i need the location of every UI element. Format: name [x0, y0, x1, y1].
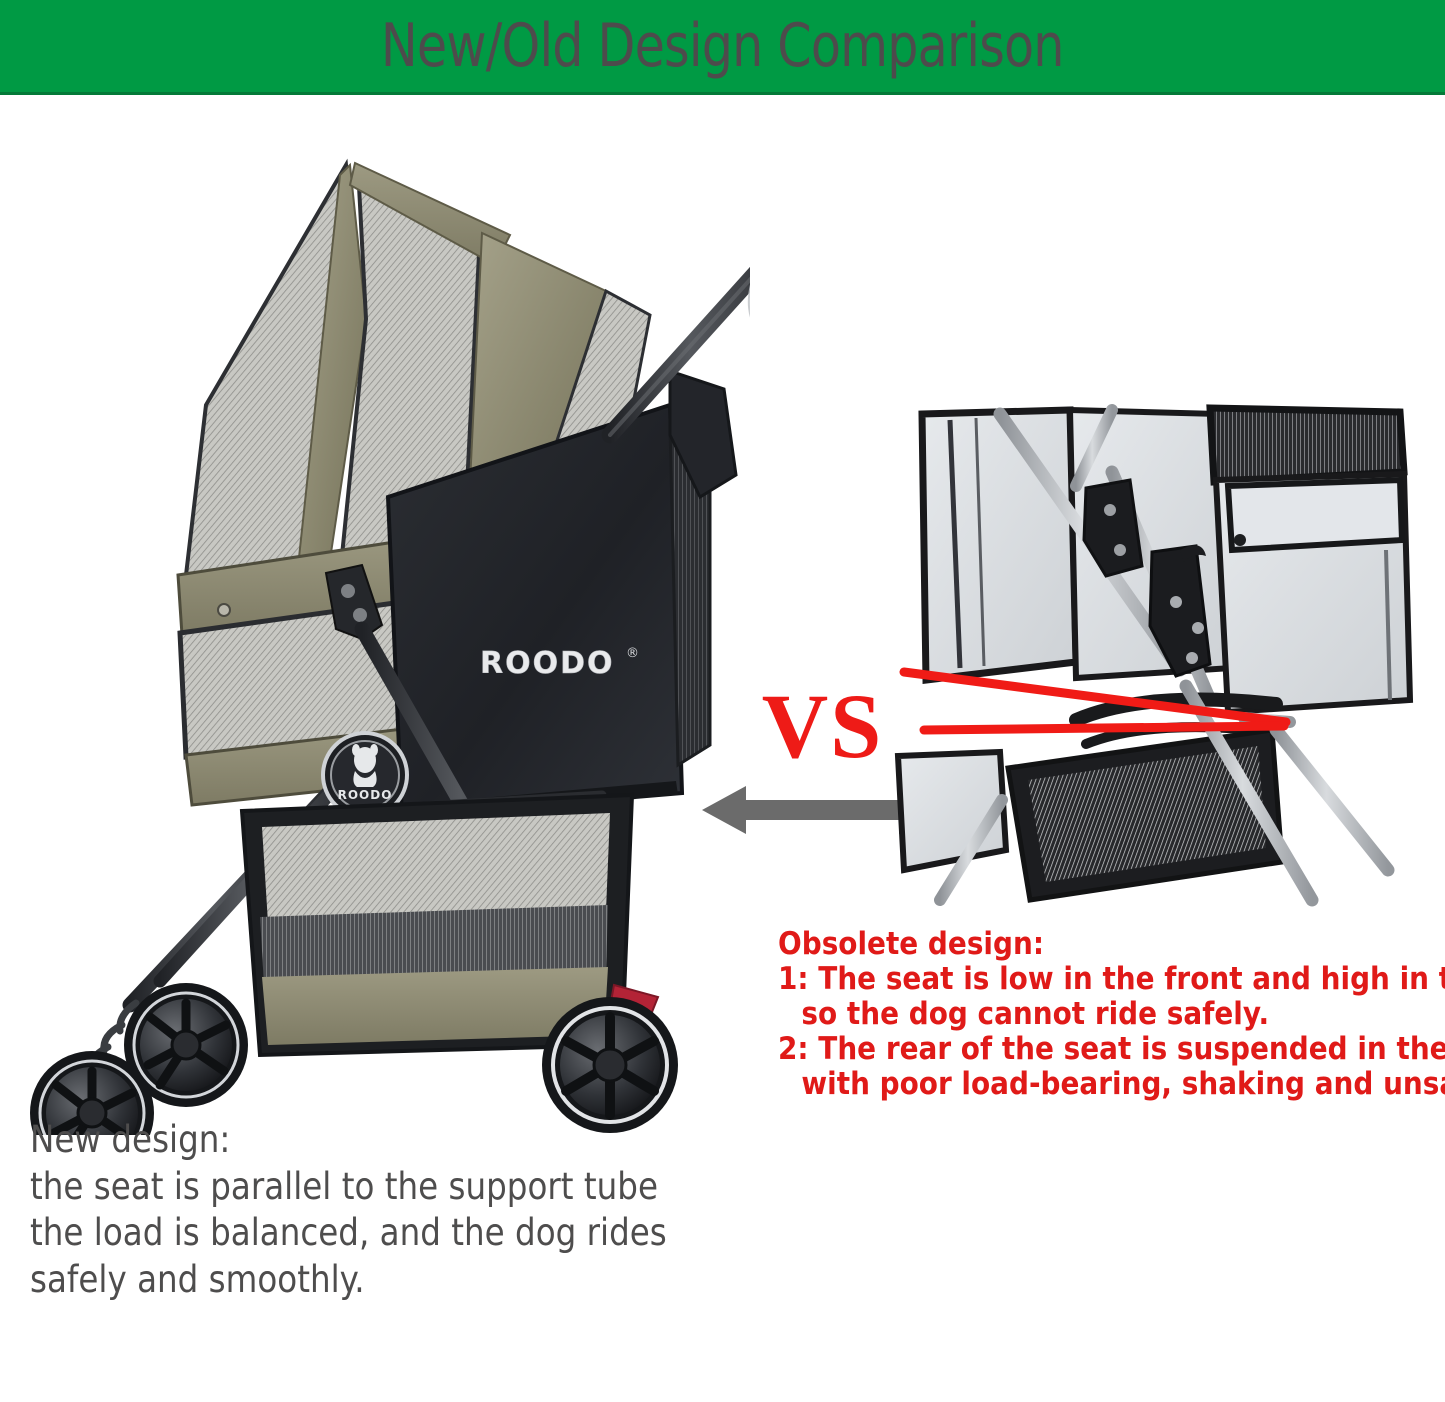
obsolete-caption-line-2: so the dog cannot ride safely. — [778, 997, 1372, 1032]
rear-wheel[interactable] — [542, 997, 678, 1133]
new-caption-line-3: safely and smoothly. — [30, 1257, 681, 1304]
comparison-stage: ROODO ® — [0, 95, 1445, 1402]
svg-text:ROODO: ROODO — [480, 646, 615, 681]
obsolete-caption-line-4: with poor load-bearing, shaking and unsa… — [778, 1067, 1372, 1102]
obsolete-caption-line-1: 1: The seat is low in the front and high… — [778, 962, 1372, 997]
old-seat-left-wall — [922, 410, 1076, 680]
old-lower-basket — [1008, 730, 1282, 900]
canopy-rivet — [218, 604, 230, 616]
pocket-snap-button — [1234, 534, 1246, 546]
old-seat-right-panel — [1216, 474, 1410, 712]
new-design-caption: New design: the seat is parallel to the … — [30, 1117, 681, 1303]
new-stroller-illustration: ROODO ® — [10, 105, 750, 1135]
obsolete-caption-line-3: 2: The rear of the seat is suspended in … — [778, 1032, 1372, 1067]
old-stroller-illustration — [880, 400, 1445, 920]
page-header-banner: New/Old Design Comparison — [0, 0, 1445, 95]
obsolete-design-caption: Obsolete design: 1: The seat is low in t… — [778, 927, 1372, 1102]
svg-text:®: ® — [626, 646, 639, 661]
page-title: New/Old Design Comparison — [381, 11, 1064, 81]
obsolete-caption-heading: Obsolete design: — [778, 927, 1372, 962]
old-canopy-mesh-window — [1210, 408, 1404, 482]
new-caption-heading: New design: — [30, 1117, 681, 1164]
obsolete-design-product-image — [880, 400, 1445, 920]
new-caption-line-1: the seat is parallel to the support tube — [30, 1164, 681, 1211]
new-caption-line-2: the load is balanced, and the dog rides — [30, 1210, 681, 1257]
handle-plastic-wrap — [749, 179, 750, 337]
svg-text:ROODO: ROODO — [338, 788, 393, 802]
new-design-product-image: ROODO ® — [10, 105, 750, 1135]
